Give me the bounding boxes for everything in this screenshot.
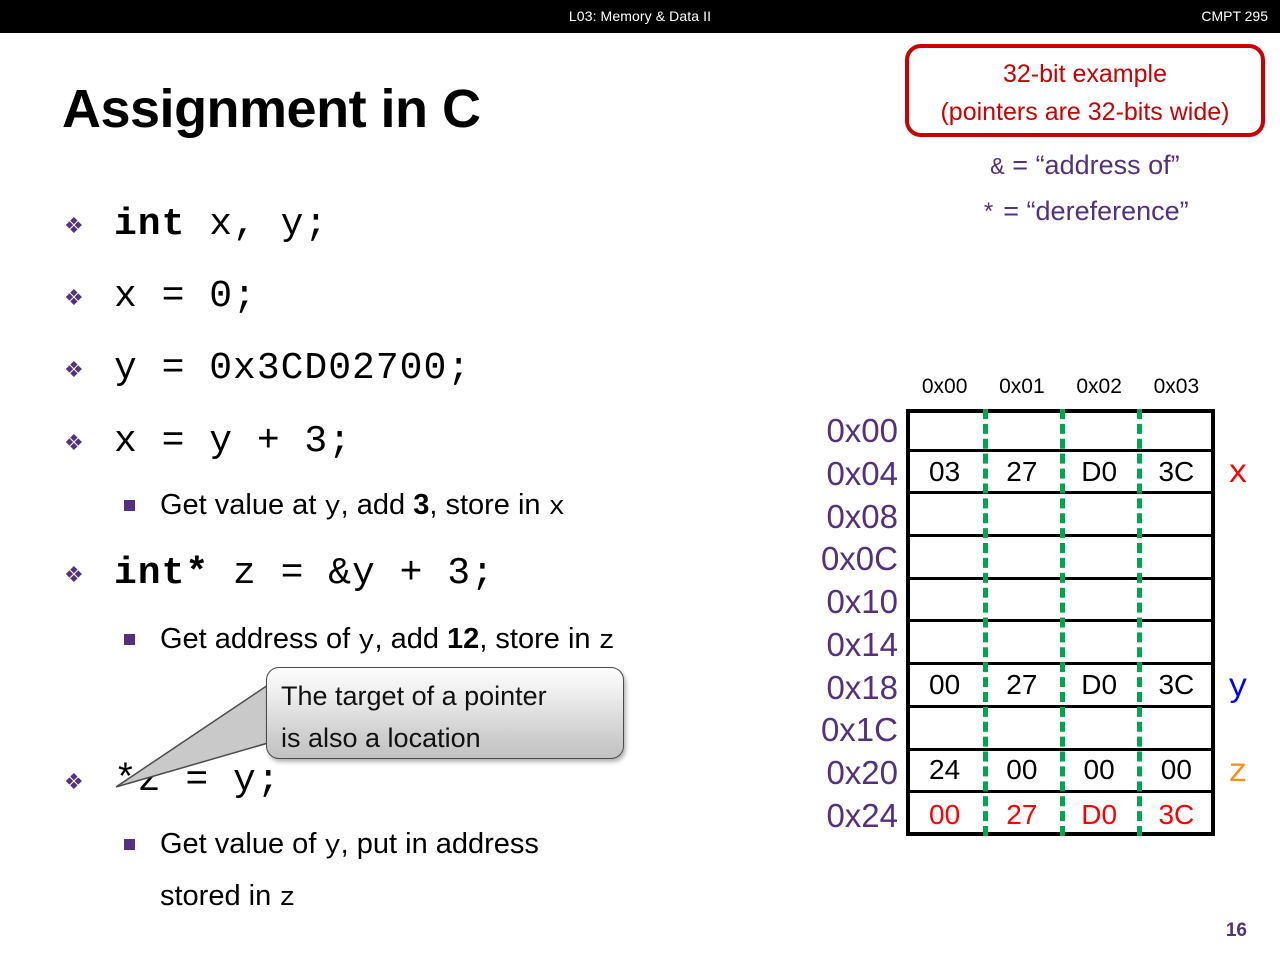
memory-cell: D0 bbox=[1061, 452, 1138, 492]
memory-cell: 27 bbox=[983, 452, 1060, 492]
memory-cell bbox=[906, 708, 983, 748]
sb3-var-y: y bbox=[324, 832, 340, 862]
sb3-var-z: z bbox=[279, 884, 295, 914]
operator-legend: & = “address of” * = “dereference” bbox=[905, 144, 1265, 236]
memory-cell bbox=[906, 623, 983, 663]
code-rest-2: x = 0; bbox=[114, 275, 257, 318]
sb1-var-y: y bbox=[324, 493, 340, 523]
callout-tail-icon bbox=[116, 677, 286, 787]
page-title: Assignment in C bbox=[62, 78, 481, 140]
sb2-mid: , add bbox=[374, 623, 447, 655]
sb2-pre: Get address of bbox=[160, 623, 358, 655]
variable-label-x: x bbox=[1228, 457, 1248, 490]
diamond-bullet-icon: ❖ bbox=[64, 564, 84, 586]
sb3-pre: Get value of bbox=[160, 828, 324, 860]
column-header-0: 0x00 bbox=[905, 375, 985, 399]
code-line-4: x = y + 3; bbox=[114, 423, 352, 461]
memory-cell bbox=[983, 580, 1060, 620]
legend-row-dereference: * = “dereference” bbox=[905, 190, 1265, 236]
memory-cell: 27 bbox=[983, 793, 1060, 836]
memory-cell bbox=[906, 409, 983, 449]
memory-cell bbox=[983, 494, 1060, 534]
row-address-label: 0x20 bbox=[806, 756, 898, 789]
callout-text: The target of a pointer is also a locati… bbox=[281, 675, 547, 759]
memory-cell bbox=[1138, 623, 1215, 663]
row-address-label: 0x18 bbox=[806, 671, 898, 704]
page-number: 16 bbox=[1226, 920, 1247, 942]
memory-cell bbox=[983, 409, 1060, 449]
row-address-label: 0x14 bbox=[806, 628, 898, 661]
memory-cell bbox=[1061, 409, 1138, 449]
memory-cell bbox=[1138, 580, 1215, 620]
sb2-post: , store in bbox=[479, 623, 598, 655]
subbullet-text-1: Get value at y, add 3, store in x bbox=[160, 489, 565, 524]
memory-cell: 00 bbox=[906, 793, 983, 836]
sb3-mid: , put in address bbox=[341, 828, 539, 860]
legend-text-address-of: = “address of” bbox=[1012, 150, 1179, 180]
row-address-label: 0x04 bbox=[806, 457, 898, 490]
memory-table: 0327D03C0027D03C240000000027D03C bbox=[906, 409, 1215, 836]
32bit-example-note: 32-bit example (pointers are 32-bits wid… bbox=[905, 44, 1265, 137]
column-header-2: 0x02 bbox=[1059, 375, 1139, 399]
column-divider-1-icon bbox=[983, 409, 988, 836]
memory-cell bbox=[906, 537, 983, 577]
memory-cell: 03 bbox=[906, 452, 983, 492]
diamond-bullet-icon: ❖ bbox=[64, 771, 84, 793]
row-address-label: 0x1C bbox=[806, 713, 898, 746]
memory-cell: D0 bbox=[1061, 793, 1138, 836]
square-bullet-icon bbox=[124, 634, 135, 645]
sb3-line2: stored in bbox=[160, 880, 279, 912]
sb1-mid: , add bbox=[341, 489, 414, 521]
memory-cell: 00 bbox=[983, 751, 1060, 791]
row-address-label: 0x08 bbox=[806, 500, 898, 533]
code-keyword-int: int bbox=[114, 203, 185, 246]
memory-cell bbox=[906, 494, 983, 534]
memory-cell bbox=[1061, 708, 1138, 748]
note-line-1: 32-bit example bbox=[909, 55, 1261, 93]
column-header-1: 0x01 bbox=[982, 375, 1062, 399]
column-divider-2-icon bbox=[1060, 409, 1065, 836]
row-address-label: 0x00 bbox=[806, 414, 898, 447]
memory-cell bbox=[1061, 537, 1138, 577]
slide-header-bar: L03: Memory & Data II CMPT 295 bbox=[0, 0, 1280, 33]
square-bullet-icon bbox=[124, 500, 135, 511]
diamond-bullet-icon: ❖ bbox=[64, 359, 84, 381]
code-keyword-int-pointer: int* bbox=[114, 552, 209, 595]
square-bullet-icon bbox=[124, 839, 135, 850]
diamond-bullet-icon: ❖ bbox=[64, 432, 84, 454]
code-line-2: x = 0; bbox=[114, 278, 257, 316]
memory-cell: 00 bbox=[1138, 751, 1215, 791]
memory-cell: 3C bbox=[1138, 793, 1215, 836]
code-line-5: int* z = &y + 3; bbox=[114, 555, 495, 593]
memory-cell bbox=[1061, 580, 1138, 620]
course-code: CMPT 295 bbox=[1201, 8, 1268, 24]
subbullet-text-3a: Get value of y, put in address bbox=[160, 828, 539, 863]
memory-cell bbox=[983, 537, 1060, 577]
sb1-post: , store in bbox=[429, 489, 548, 521]
memory-cell bbox=[906, 580, 983, 620]
legend-row-address-of: & = “address of” bbox=[905, 144, 1265, 190]
code-line-1: int x, y; bbox=[114, 206, 328, 244]
diamond-bullet-icon: ❖ bbox=[64, 215, 84, 237]
memory-cell: D0 bbox=[1061, 665, 1138, 705]
memory-cell: 24 bbox=[906, 751, 983, 791]
memory-cell bbox=[983, 708, 1060, 748]
code-line-3: y = 0x3CD02700; bbox=[114, 350, 471, 388]
code-rest-4: x = y + 3; bbox=[114, 420, 352, 463]
memory-cell: 27 bbox=[983, 665, 1060, 705]
memory-cell bbox=[983, 623, 1060, 663]
asterisk-operator: * bbox=[981, 201, 995, 228]
subbullet-text-3b: stored in z bbox=[160, 880, 296, 915]
memory-cell bbox=[1138, 409, 1215, 449]
memory-cell bbox=[1138, 494, 1215, 534]
ampersand-operator: & bbox=[990, 155, 1004, 182]
variable-label-z: z bbox=[1228, 756, 1248, 789]
memory-cell: 3C bbox=[1138, 452, 1215, 492]
sb1-pre: Get value at bbox=[160, 489, 324, 521]
row-address-label: 0x0C bbox=[806, 542, 898, 575]
tooltip-callout: The target of a pointer is also a locati… bbox=[266, 667, 624, 759]
sb2-number: 12 bbox=[447, 623, 479, 655]
legend-text-dereference: = “dereference” bbox=[1003, 196, 1188, 226]
variable-label-y: y bbox=[1228, 671, 1248, 704]
sb1-var-x: x bbox=[549, 493, 565, 523]
memory-cell bbox=[1061, 494, 1138, 534]
memory-cell bbox=[1138, 537, 1215, 577]
code-rest-3: y = 0x3CD02700; bbox=[114, 347, 471, 390]
diamond-bullet-icon: ❖ bbox=[64, 287, 84, 309]
row-address-label: 0x10 bbox=[806, 585, 898, 618]
callout-line-2: is also a location bbox=[281, 717, 547, 759]
memory-cell: 00 bbox=[1061, 751, 1138, 791]
note-line-2: (pointers are 32-bits wide) bbox=[909, 93, 1261, 131]
sb2-var-z: z bbox=[599, 627, 615, 657]
memory-cell bbox=[1138, 708, 1215, 748]
subbullet-text-2: Get address of y, add 12, store in z bbox=[160, 623, 615, 658]
code-rest-1: x, y; bbox=[185, 203, 328, 246]
memory-cell: 3C bbox=[1138, 665, 1215, 705]
column-divider-3-icon bbox=[1137, 409, 1142, 836]
sb2-var-y: y bbox=[358, 627, 374, 657]
memory-cell: 00 bbox=[906, 665, 983, 705]
memory-cell bbox=[1061, 623, 1138, 663]
column-header-3: 0x03 bbox=[1136, 375, 1216, 399]
callout-line-1: The target of a pointer bbox=[281, 675, 547, 717]
code-rest-5: z = &y + 3; bbox=[209, 552, 495, 595]
lecture-title: L03: Memory & Data II bbox=[0, 8, 1280, 24]
row-address-label: 0x24 bbox=[806, 799, 898, 832]
sb1-number: 3 bbox=[413, 489, 429, 521]
